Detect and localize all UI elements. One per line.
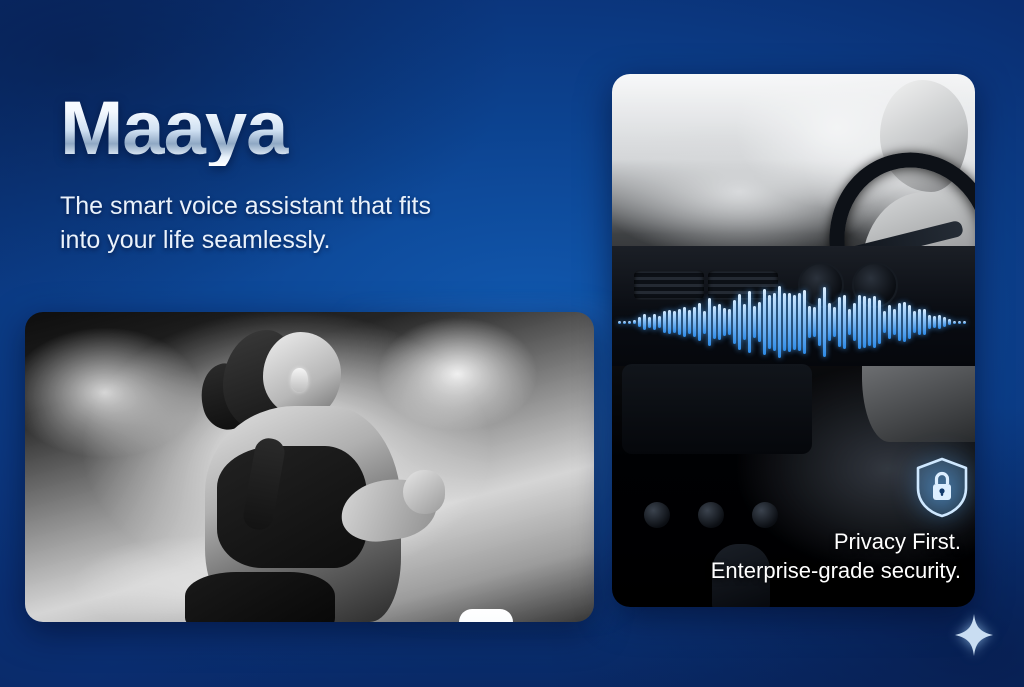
privacy-headline: Privacy First. Enterprise-grade security… <box>628 527 961 585</box>
waveform-bar <box>668 310 671 335</box>
waveform-bar <box>618 321 621 324</box>
waveform-bar <box>678 309 681 334</box>
waveform-bar <box>718 304 721 340</box>
waveform-bar <box>788 293 791 352</box>
voice-waveform-right <box>618 282 970 362</box>
waveform-bar <box>858 295 861 348</box>
waveform-bar <box>963 321 966 324</box>
waveform-bar <box>698 303 701 341</box>
console-knob <box>752 502 778 528</box>
waveform-bar <box>778 286 781 359</box>
waveform-bar <box>938 315 941 329</box>
sparkle-icon <box>955 614 993 656</box>
waveform-bar <box>843 295 846 350</box>
waveform-bar <box>638 317 641 326</box>
waveform-bar <box>883 311 886 332</box>
waveform-bar <box>733 300 736 344</box>
hero-text-block: Maaya The smart voice assistant that fit… <box>60 92 580 257</box>
console-knob <box>698 502 724 528</box>
waveform-bar <box>783 293 786 351</box>
lifestyle-running-card[interactable]: M G <box>25 312 594 622</box>
waveform-bar <box>873 296 876 348</box>
waveform-bar <box>913 311 916 333</box>
runner-figure <box>145 320 445 622</box>
waveform-bar <box>683 307 686 336</box>
waveform-bar <box>833 307 836 337</box>
waveform-bar <box>768 295 771 350</box>
waveform-bar <box>738 294 741 351</box>
hero-tagline-line-2: into your life seamlessly. <box>60 224 490 257</box>
driving-privacy-card[interactable]: Privacy First. Enterprise-grade security… <box>612 74 975 607</box>
waveform-bar <box>908 305 911 339</box>
waveform-bar <box>893 309 896 335</box>
waveform-bar <box>848 309 851 336</box>
waveform-bar <box>758 302 761 343</box>
hero-tagline-line-1: The smart voice assistant that fits <box>60 190 490 223</box>
waveform-bar <box>748 291 751 353</box>
waveform-bar <box>888 305 891 338</box>
waveform-bar <box>728 309 731 335</box>
waveform-bar <box>793 295 796 350</box>
waveform-bar <box>813 307 816 338</box>
waveform-bar <box>628 321 631 324</box>
waveform-bar <box>623 321 626 324</box>
waveform-bar <box>868 298 871 345</box>
waveform-bar <box>703 311 706 334</box>
waveform-bar <box>853 303 856 341</box>
waveform-bar <box>923 309 926 335</box>
gmail-icon[interactable] <box>459 609 513 622</box>
waveform-bar <box>953 321 956 324</box>
waveform-bar <box>773 293 776 350</box>
waveform-bar <box>633 320 636 324</box>
waveform-bar <box>688 310 691 334</box>
waveform-bar <box>653 314 656 330</box>
waveform-bar <box>948 319 951 324</box>
waveform-bar <box>933 316 936 328</box>
center-console <box>622 364 812 454</box>
waveform-bar <box>943 317 946 327</box>
privacy-headline-line-1: Privacy First. <box>628 527 961 556</box>
page-title: Maaya <box>60 92 580 166</box>
waveform-bar <box>803 290 806 355</box>
waveform-bar <box>838 297 841 347</box>
waveform-bar <box>663 311 666 332</box>
waveform-bar <box>818 298 821 346</box>
privacy-headline-line-2: Enterprise-grade security. <box>628 556 961 585</box>
waveform-bar <box>723 308 726 336</box>
waveform-bar <box>673 311 676 334</box>
waveform-bar <box>898 303 901 342</box>
waveform-bar <box>693 307 696 336</box>
waveform-bar <box>658 316 661 328</box>
waveform-bar <box>878 300 881 345</box>
runner-fist <box>403 470 445 514</box>
waveform-bar <box>808 306 811 339</box>
shield-lock-icon <box>914 456 970 518</box>
waveform-bar <box>823 287 826 357</box>
waveform-bar <box>863 296 866 348</box>
waveform-bar <box>753 306 756 337</box>
waveform-bar <box>958 321 961 324</box>
waveform-bar <box>708 298 711 347</box>
waveform-bar <box>648 317 651 328</box>
hero-tagline: The smart voice assistant that fits into… <box>60 190 490 257</box>
waveform-bar <box>903 302 906 342</box>
waveform-bar <box>743 304 746 341</box>
waveform-bar <box>643 314 646 330</box>
waveform-bar <box>713 306 716 339</box>
waveform-bar <box>763 289 766 355</box>
runner-legs <box>185 572 335 622</box>
waveform-bar <box>828 303 831 342</box>
console-knob <box>644 502 670 528</box>
waveform-bar <box>798 293 801 352</box>
earbud-icon <box>291 368 308 392</box>
waveform-bar <box>918 309 921 336</box>
waveform-bar <box>928 315 931 329</box>
